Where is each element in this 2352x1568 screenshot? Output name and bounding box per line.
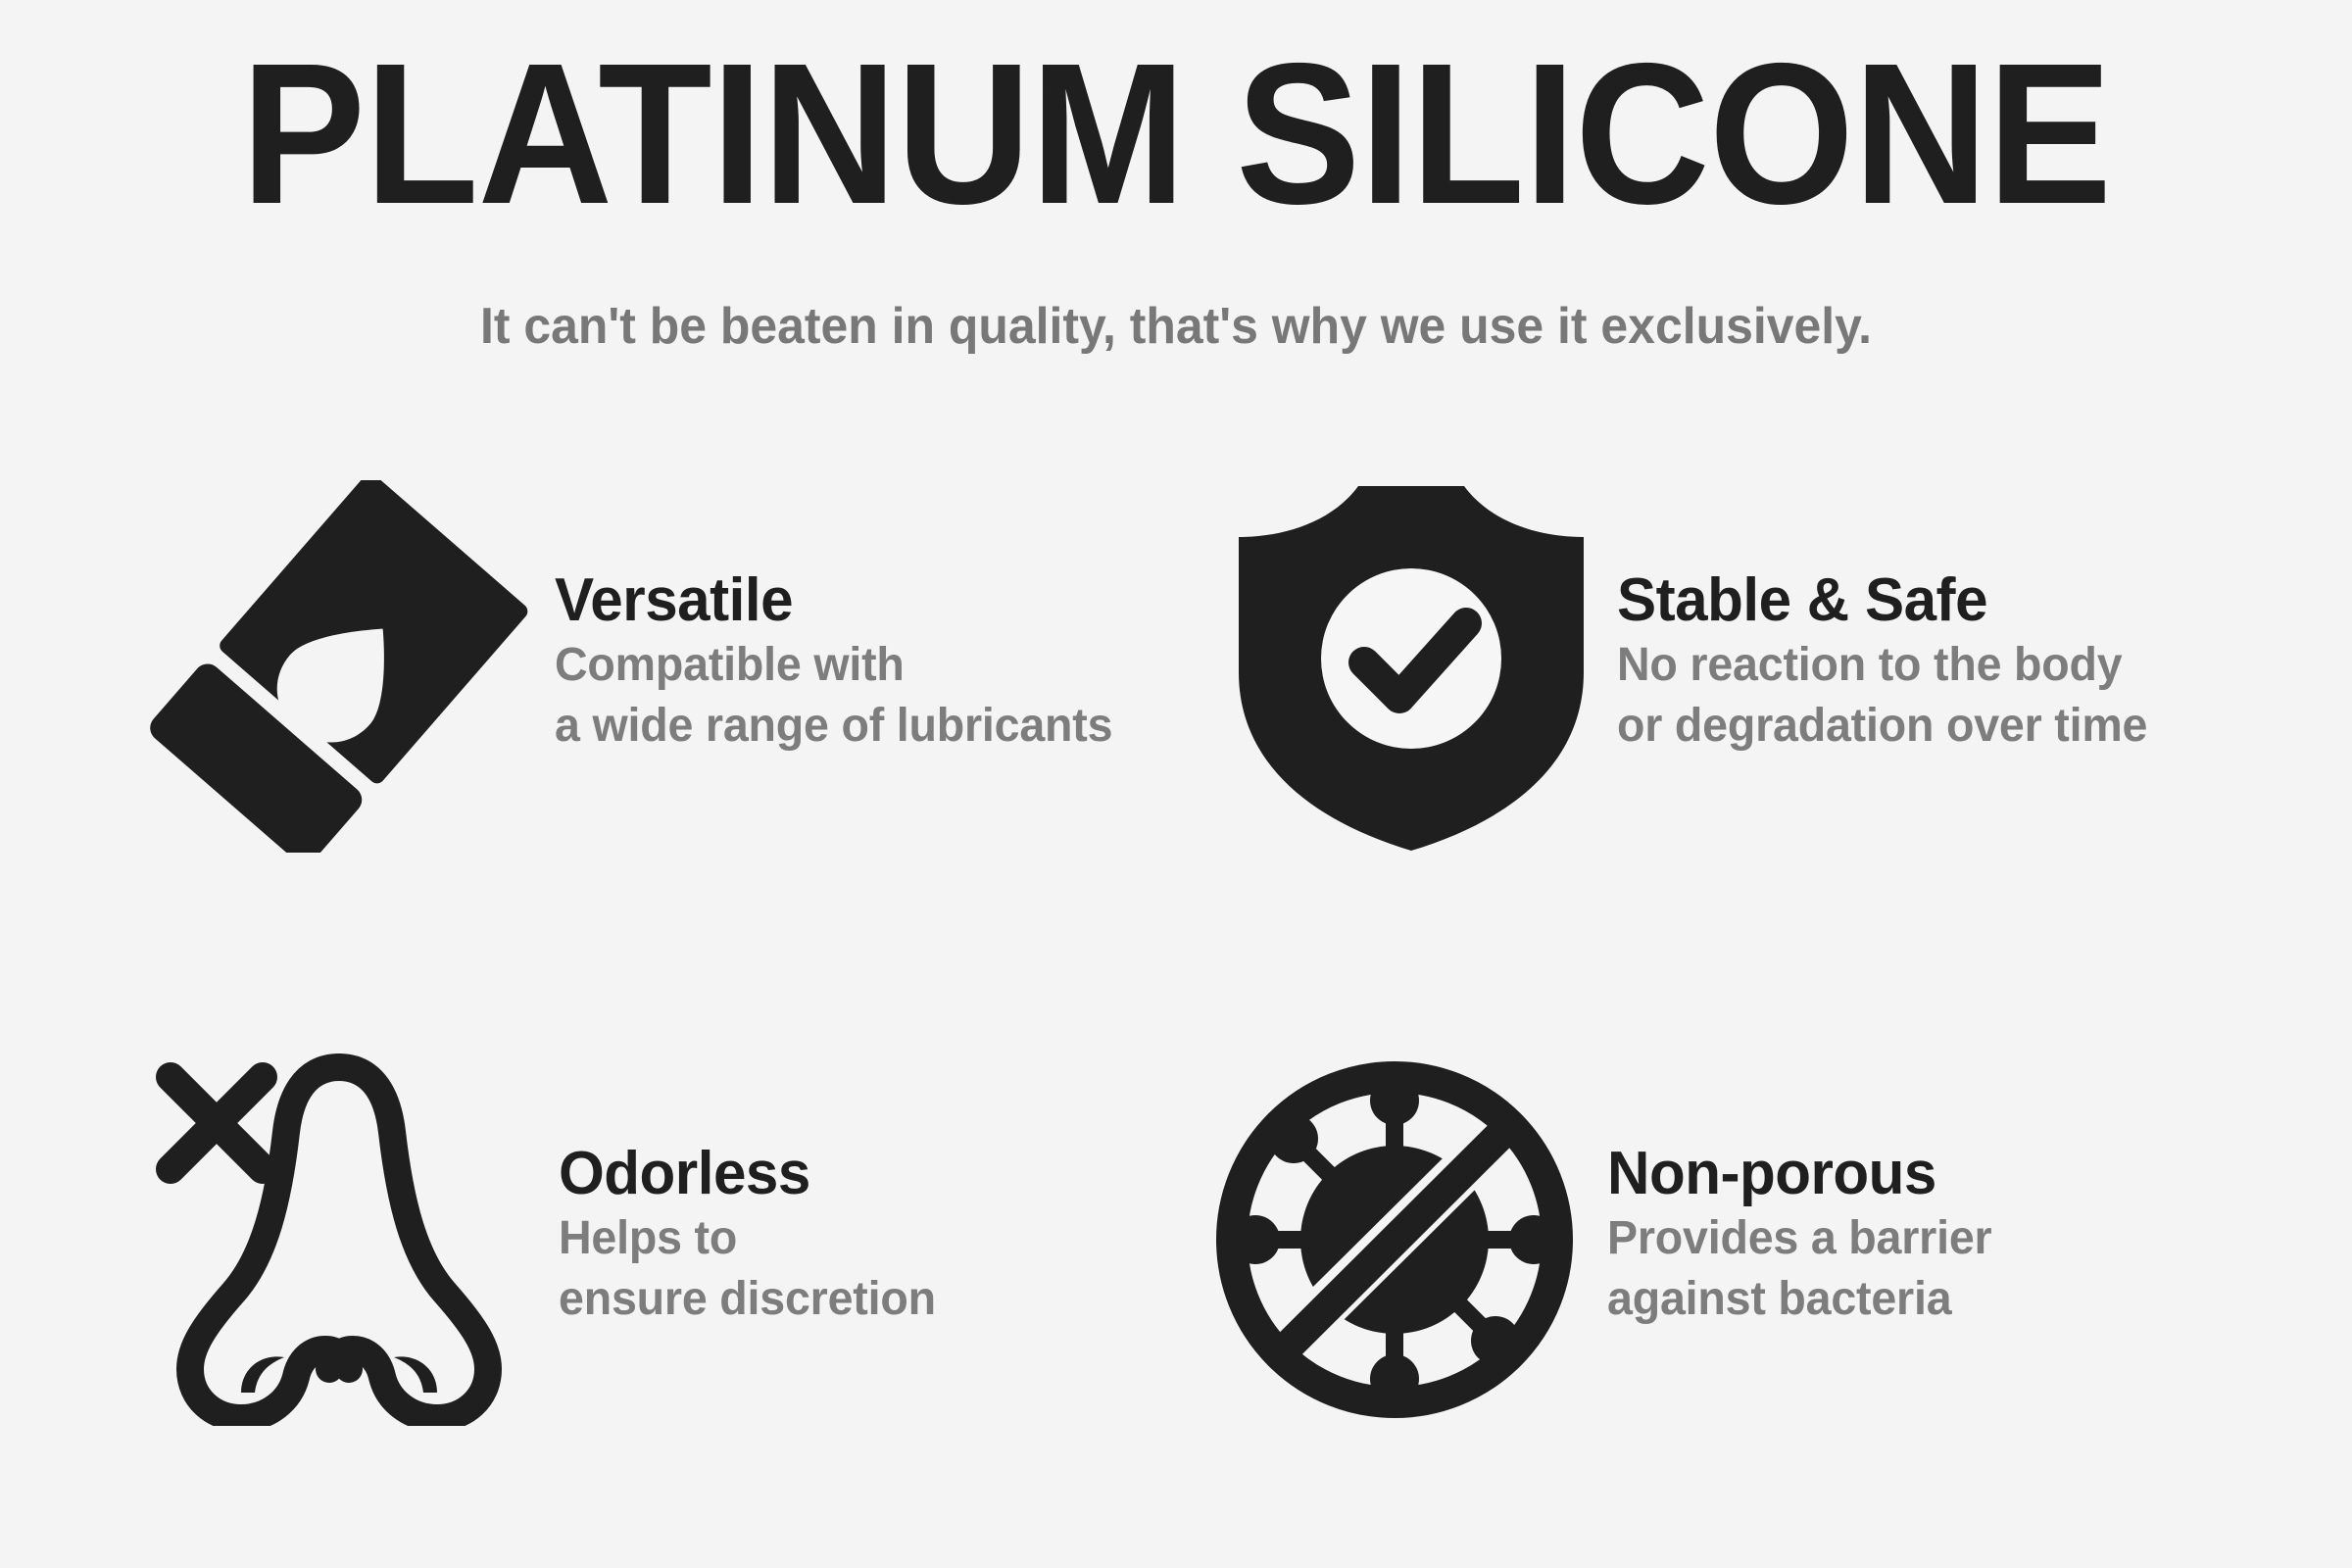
infographic-poster: PLATINUM SILICONE It can't be beaten in … (0, 0, 2352, 1568)
no-bacteria-icon (1215, 1053, 1578, 1426)
feature-text-block: Non-porous Provides a barrier against ba… (1578, 1053, 2293, 1330)
feature-title: Stable & Safe (1617, 566, 2292, 635)
feature-desc-line-1: Compatible with (555, 635, 1167, 696)
feature-item-odorless: Odorless Helps to ensure discretion (147, 1053, 1186, 1426)
feature-title: Non-porous (1607, 1140, 2273, 1208)
feature-item-stable-safe: Stable & Safe No reaction to the body or… (1235, 480, 2313, 853)
nose-no-smell-icon (147, 1053, 519, 1426)
shield-check-icon (1235, 480, 1588, 853)
feature-title: Odorless (559, 1140, 1167, 1208)
feature-text-block: Odorless Helps to ensure discretion (519, 1053, 1186, 1330)
feature-desc-line-2: or degradation over time (1617, 696, 2292, 757)
feature-desc-line-1: Provides a barrier (1607, 1208, 2273, 1269)
feature-title: Versatile (555, 566, 1167, 635)
page-title: PLATINUM SILICONE (82, 33, 2270, 234)
feature-item-non-porous: Non-porous Provides a barrier against ba… (1215, 1053, 2293, 1426)
lubricant-tube-icon (147, 480, 529, 853)
feature-item-versatile: Versatile Compatible with a wide range o… (147, 480, 1186, 853)
feature-desc-line-2: against bacteria (1607, 1269, 2273, 1330)
feature-text-block: Versatile Compatible with a wide range o… (529, 480, 1186, 757)
feature-desc-line-2: a wide range of lubricants (555, 696, 1167, 757)
x-mark (171, 1077, 263, 1169)
feature-desc-line-2: ensure discretion (559, 1269, 1167, 1330)
feature-desc-line-1: Helps to (559, 1208, 1167, 1269)
feature-text-block: Stable & Safe No reaction to the body or… (1588, 480, 2313, 757)
page-subtitle: It can't be beaten in quality, that's wh… (47, 296, 2305, 357)
feature-desc-line-1: No reaction to the body (1617, 635, 2292, 696)
